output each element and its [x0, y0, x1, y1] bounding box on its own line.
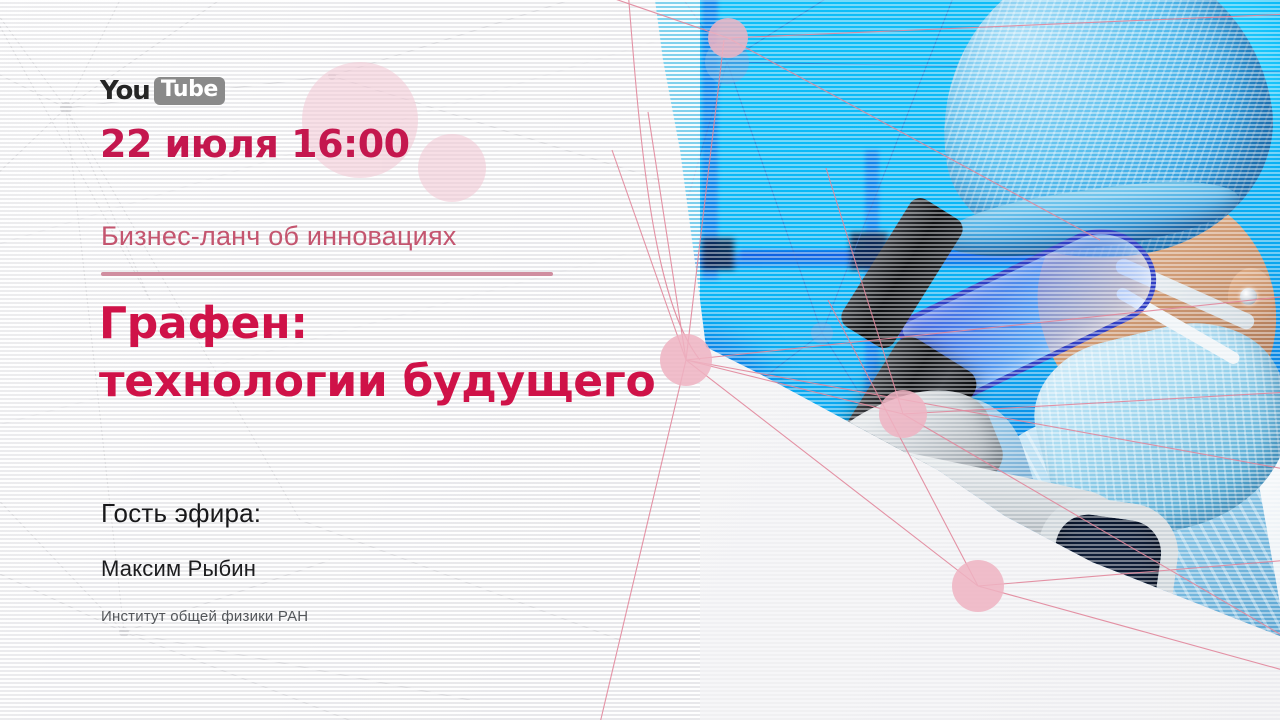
event-title: Графен: технологии будущего	[99, 295, 655, 411]
text-column: You Tube 22 июля 16:00 Бизнес-ланч об ин…	[0, 0, 660, 720]
slide-canvas: You Tube 22 июля 16:00 Бизнес-ланч об ин…	[0, 0, 1280, 720]
event-title-line-2: технологии будущего	[99, 353, 655, 411]
youtube-logo-you: You	[100, 78, 150, 104]
event-kicker: Бизнес-ланч об инновациях	[101, 221, 456, 252]
guest-name: Максим Рыбин	[101, 556, 256, 582]
youtube-logo-icon: You Tube	[100, 76, 225, 106]
broadcast-datetime: 22 июля 16:00	[100, 122, 410, 166]
guest-label: Гость эфира:	[101, 498, 261, 529]
guest-organization: Институт общей физики РАН	[101, 608, 308, 625]
event-title-line-1: Графен:	[99, 295, 655, 353]
kicker-divider	[101, 272, 553, 276]
youtube-logo-tube: Tube	[154, 77, 225, 104]
